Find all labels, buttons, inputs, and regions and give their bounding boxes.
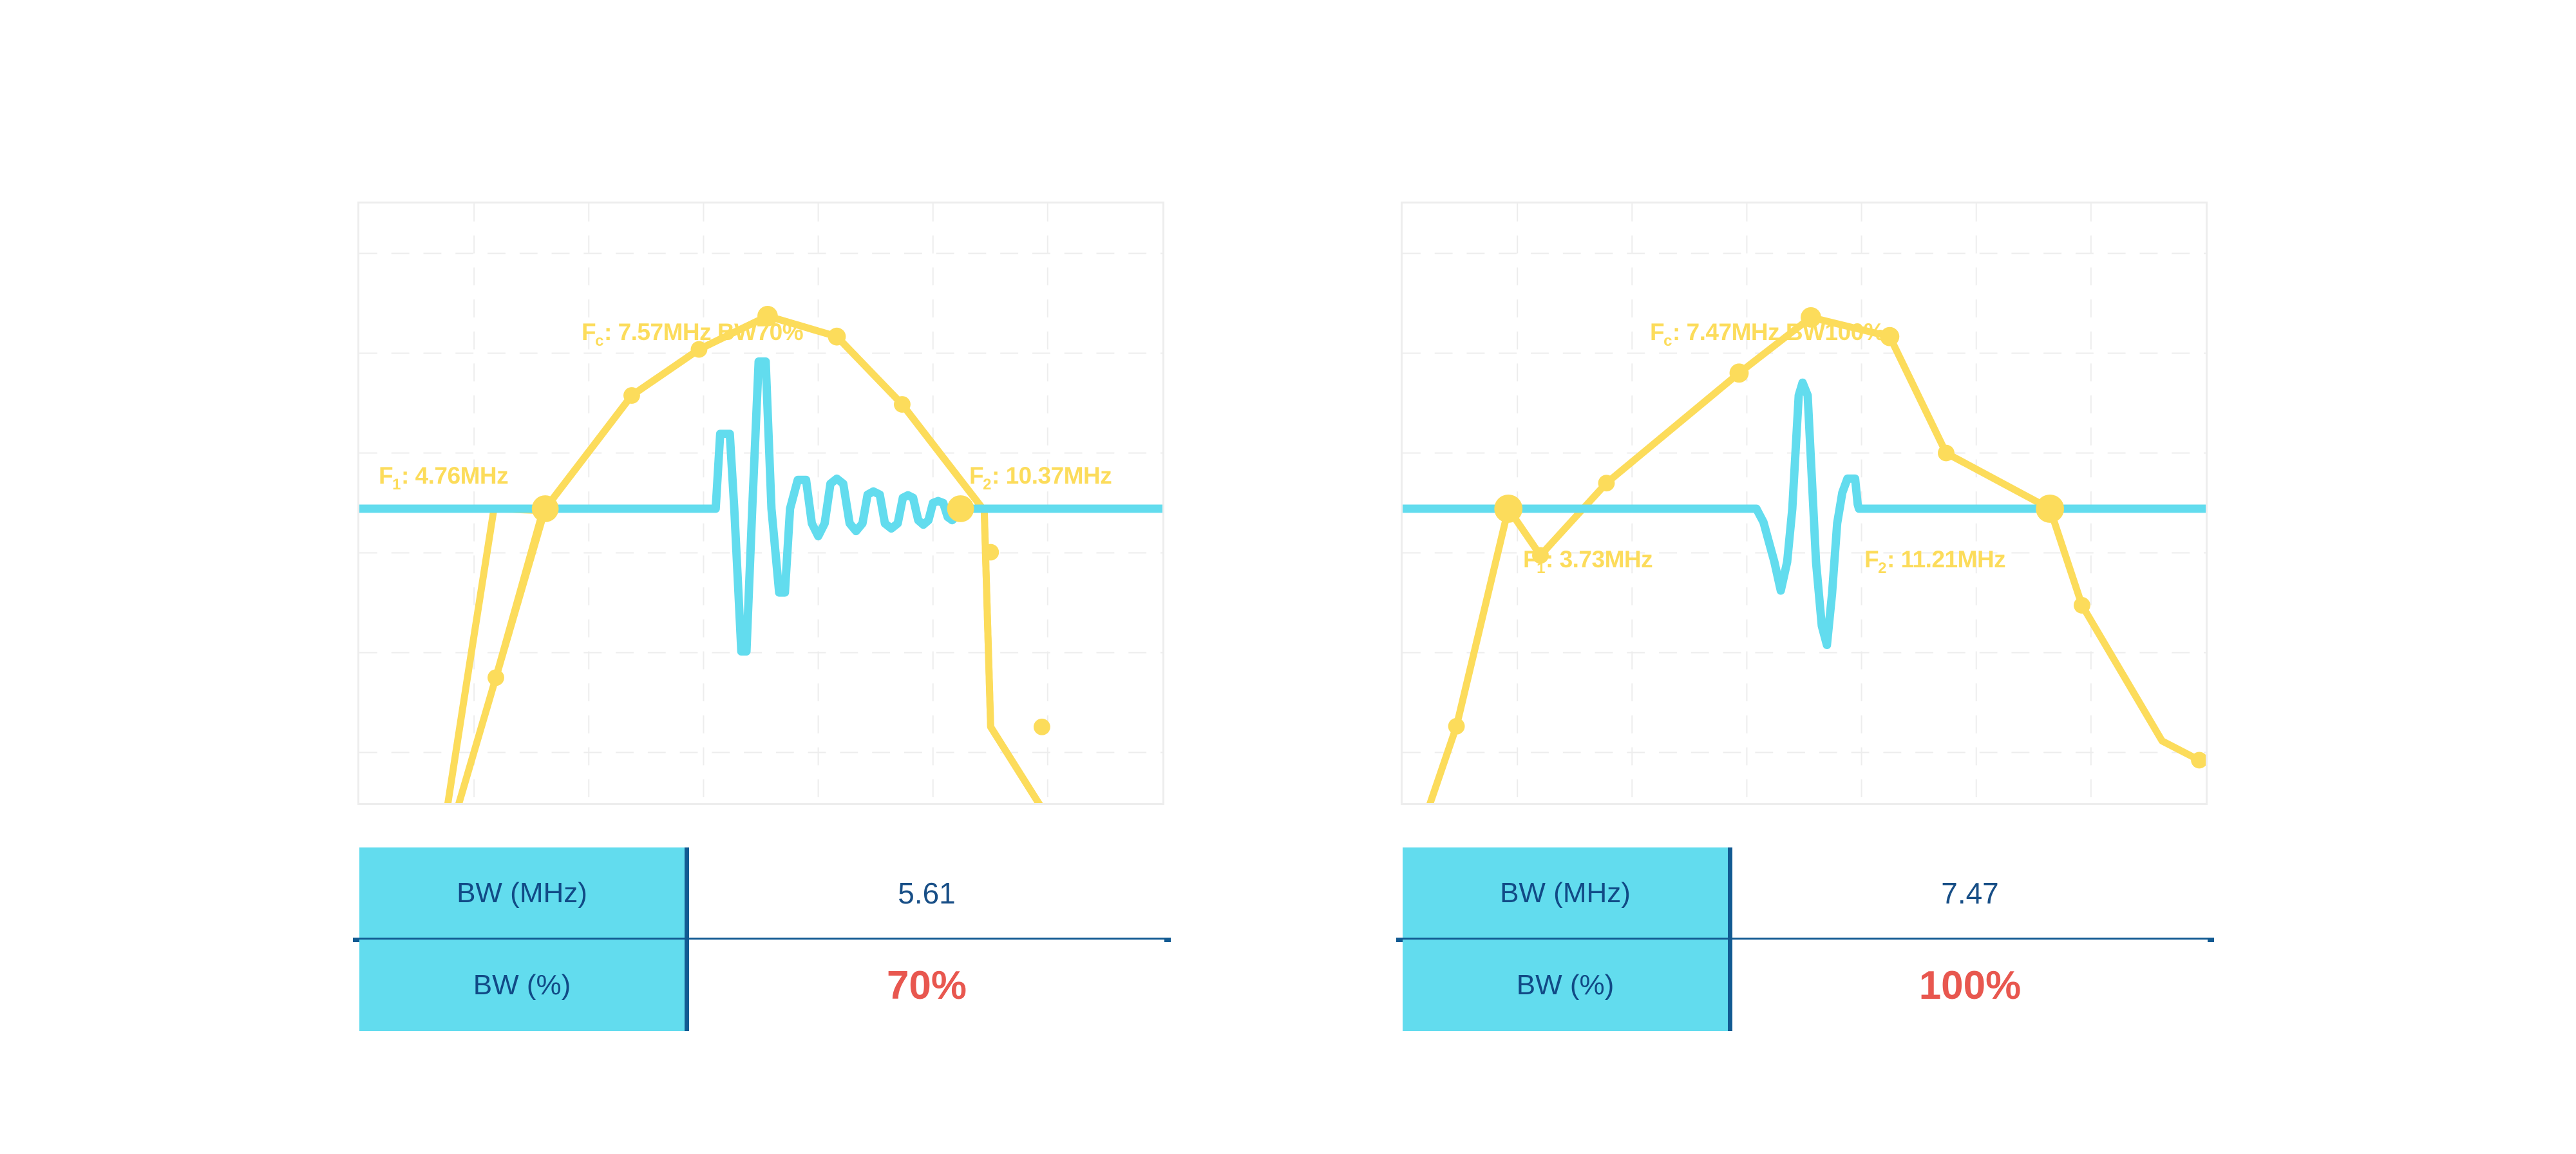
label-fc-right: Fc: 7.47MHz BW100% [1650, 319, 1884, 346]
label-f2-left: F2: 10.37MHz [969, 462, 1112, 489]
f2-subscript: 2 [1878, 560, 1886, 577]
spectrum-points-right [1448, 307, 2206, 768]
fc-value: : 7.57MHz BW70% [604, 319, 803, 345]
table-row: BW (MHz) 7.47 [1403, 847, 2208, 939]
table-header-cell-bw-pct: BW (%) [359, 940, 689, 1031]
table-header-label: BW (%) [473, 969, 571, 1001]
f2-symbol: F [1864, 546, 1879, 572]
table-value-bw-pct: 100% [1919, 963, 2022, 1008]
table-header-label: BW (%) [1517, 969, 1615, 1001]
table-value-cell-bw-mhz: 5.61 [689, 847, 1164, 939]
table-header-cell-bw-mhz: BW (MHz) [359, 847, 689, 939]
table-value-bw-mhz: 5.61 [898, 876, 956, 911]
f1-value: : 3.73MHz [1546, 546, 1653, 572]
table-value-cell-bw-pct: 100% [1732, 940, 2208, 1031]
f1-subscript: 1 [392, 476, 401, 493]
spectrum-chart-left [359, 203, 1162, 803]
f2-value: : 10.37MHz [992, 462, 1112, 489]
f1-symbol: F [1523, 546, 1537, 572]
f2-symbol: F [969, 462, 983, 489]
f2-value: : 11.21MHz [1887, 546, 2005, 572]
panel-right: Fc: 7.47MHz BW100% F1: 3.73MHz F2: 11.21… [1249, 0, 2473, 1154]
f2-subscript: 2 [983, 476, 991, 493]
f1-symbol: F [379, 462, 393, 489]
chart-frame-right [1401, 202, 2208, 805]
table-header-cell-bw-pct: BW (%) [1403, 940, 1732, 1031]
bandwidth-table-left: BW (MHz) 5.61 BW (%) 70% [359, 847, 1164, 1031]
table-row: BW (%) 70% [359, 940, 1164, 1031]
table-row: BW (%) 100% [1403, 940, 2208, 1031]
label-f1-right: F1: 3.73MHz [1523, 546, 1653, 573]
bandwidth-table-right: BW (MHz) 7.47 BW (%) 100% [1403, 847, 2208, 1031]
label-f2-right: F2: 11.21MHz [1864, 546, 2005, 573]
fc-symbol: F [1650, 319, 1664, 345]
f1-value: : 4.76MHz [401, 462, 508, 489]
spectrum-chart-right [1403, 203, 2206, 803]
fc-subscript: c [1663, 332, 1672, 350]
panel-left: Fc: 7.57MHz BW70% F1: 4.76MHz F2: 10.37M… [206, 0, 1430, 1154]
table-header-cell-bw-mhz: BW (MHz) [1403, 847, 1732, 939]
fc-subscript: c [595, 332, 603, 350]
label-f1-left: F1: 4.76MHz [379, 462, 508, 489]
table-value-cell-bw-pct: 70% [689, 940, 1164, 1031]
table-row: BW (MHz) 5.61 [359, 847, 1164, 939]
table-header-label: BW (MHz) [1500, 877, 1631, 909]
fc-symbol: F [582, 319, 596, 345]
table-value-bw-mhz: 7.47 [1941, 876, 1999, 911]
grid-lines-left [359, 203, 1162, 803]
chart-frame-left [357, 202, 1164, 805]
table-header-label: BW (MHz) [457, 877, 587, 909]
table-value-bw-pct: 70% [887, 963, 967, 1008]
grid-lines-right [1403, 203, 2206, 803]
table-value-cell-bw-mhz: 7.47 [1732, 847, 2208, 939]
f1-subscript: 1 [1537, 560, 1545, 577]
fc-value: : 7.47MHz BW100% [1672, 319, 1884, 345]
label-fc-left: Fc: 7.57MHz BW70% [582, 319, 803, 346]
